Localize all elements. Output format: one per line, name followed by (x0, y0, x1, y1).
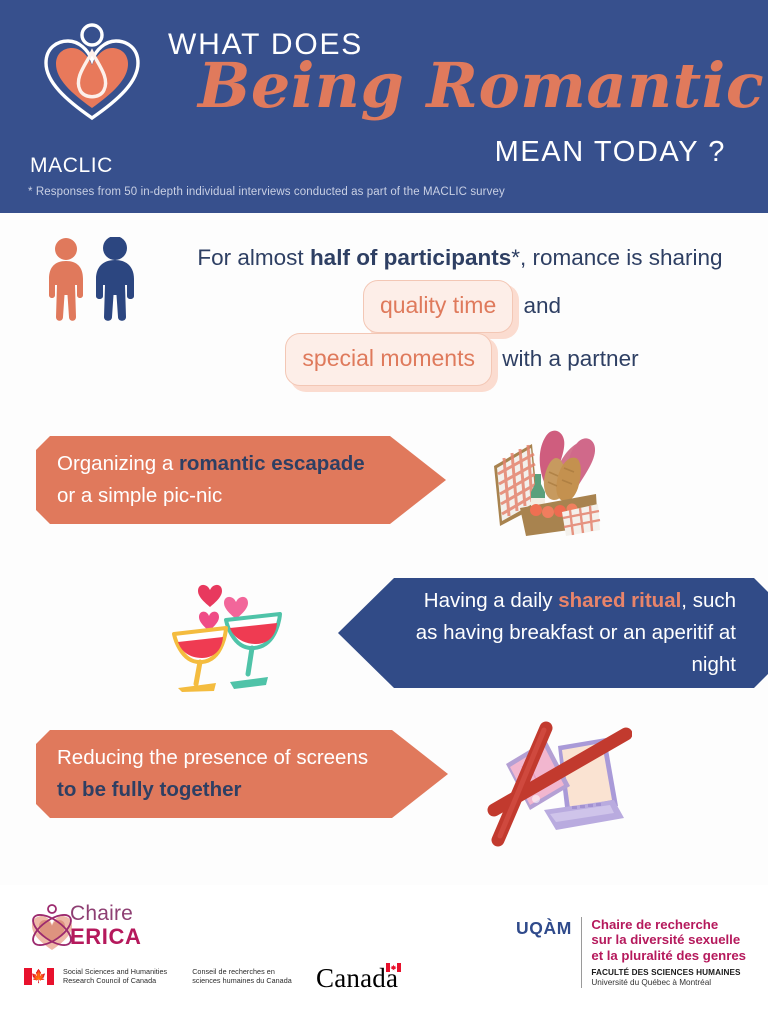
uqam-divider (581, 917, 583, 988)
glass-teal (226, 614, 280, 689)
sshrc-fr-line1: Conseil de recherches en (192, 967, 292, 976)
erica-line-chaire: Chaire (70, 903, 141, 925)
uqam-wordmark: UQÀM (516, 917, 581, 939)
highlight-pill-quality-time: quality time (363, 280, 513, 333)
sshrc-english-name: Social Sciences and Humanities Research … (63, 967, 167, 986)
heart-icon (224, 597, 248, 619)
heart-icon (198, 585, 222, 607)
header-banner: MACLIC WHAT DOES Being Romantic MEAN TOD… (0, 0, 768, 213)
pill-label: quality time (380, 292, 496, 318)
uqam-title-line3: et la pluralité des genres (591, 948, 746, 963)
intro-bold-half-participants: half of participants (310, 245, 511, 270)
sshrc-en-line1: Social Sciences and Humanities (63, 967, 167, 976)
banner-text: Having a daily shared ritual, such as ha… (404, 585, 736, 681)
uqam-title-line2: sur la diversité sexuelle (591, 932, 746, 947)
person-navy-icon (96, 237, 134, 321)
intro-text-part1: For almost (197, 245, 310, 270)
sshrc-fr-line2: sciences humaines du Canada (192, 976, 292, 985)
banner-text-before: Reducing the presence of screens (57, 746, 368, 769)
banner-text: Organizing a romantic escapade or a simp… (57, 448, 382, 512)
banner-text-before: Having a daily (424, 589, 558, 612)
pill-label: special moments (302, 345, 475, 371)
canada-wordmark-flag-icon (386, 963, 401, 972)
sshrc-logo: 🍁 Social Sciences and Humanities Researc… (24, 967, 292, 986)
intro-paragraph: For almost half of participants*, romanc… (186, 235, 734, 386)
title-script-being-romantic: Being Romantic (198, 55, 748, 117)
two-people-icon (44, 237, 146, 322)
erica-line-name: ERICA (70, 925, 141, 949)
banner-text: Reducing the presence of screens to be f… (57, 742, 384, 806)
survey-footnote: * Responses from 50 in-depth individual … (28, 186, 505, 198)
cocktail-glasses-illustration (164, 572, 288, 692)
chaire-erica-wordmark: Chaire ERICA (70, 903, 141, 949)
picnic-basket-illustration (486, 414, 608, 540)
person-orange-icon (49, 238, 83, 321)
banner-text-before: Organizing a (57, 452, 179, 475)
maclic-wordmark: MACLIC (30, 154, 113, 178)
highlight-pill-special-moments: special moments (285, 333, 492, 386)
intro-text-part2: *, romance is sharing (511, 245, 722, 270)
glass-gold (174, 628, 226, 692)
banner-highlight: to be fully together (57, 778, 242, 801)
footer: Chaire ERICA 🍁 Social Sciences and Human… (0, 885, 768, 1024)
banner-highlight: romantic escapade (179, 452, 365, 475)
banner-text-after: or a simple pic-nic (57, 484, 222, 507)
title-line-mean-today: MEAN TODAY ? (495, 136, 726, 169)
canadian-flag-icon: 🍁 (24, 968, 54, 985)
sshrc-french-name: Conseil de recherches en sciences humain… (192, 967, 292, 986)
maclic-heart-icon (36, 22, 148, 130)
banner-romantic-escapade: Organizing a romantic escapade or a simp… (36, 436, 446, 524)
uqam-logo: UQÀM Chaire de recherche sur la diversit… (516, 917, 746, 988)
uqam-faculty: FACULTÉ DES SCIENCES HUMAINES (591, 967, 746, 978)
sshrc-en-line2: Research Council of Canada (63, 976, 167, 985)
intro-text-part3: and (517, 293, 561, 318)
infographic-poster: MACLIC WHAT DOES Being Romantic MEAN TOD… (0, 0, 768, 1024)
banner-highlight: shared ritual (558, 589, 681, 612)
banner-shared-ritual: Having a daily shared ritual, such as ha… (338, 578, 768, 688)
intro-text-part4: with a partner (496, 346, 639, 371)
maclic-logo: MACLIC (28, 22, 156, 172)
uqam-title-line1: Chaire de recherche (591, 917, 746, 932)
uqam-chair-name: Chaire de recherche sur la diversité sex… (591, 917, 746, 988)
banner-reducing-screens: Reducing the presence of screens to be f… (36, 730, 448, 818)
uqam-university: Université du Québec à Montréal (591, 978, 746, 988)
crossed-out-screens-illustration (484, 714, 632, 850)
intro-statement: For almost half of participants*, romanc… (0, 225, 768, 385)
